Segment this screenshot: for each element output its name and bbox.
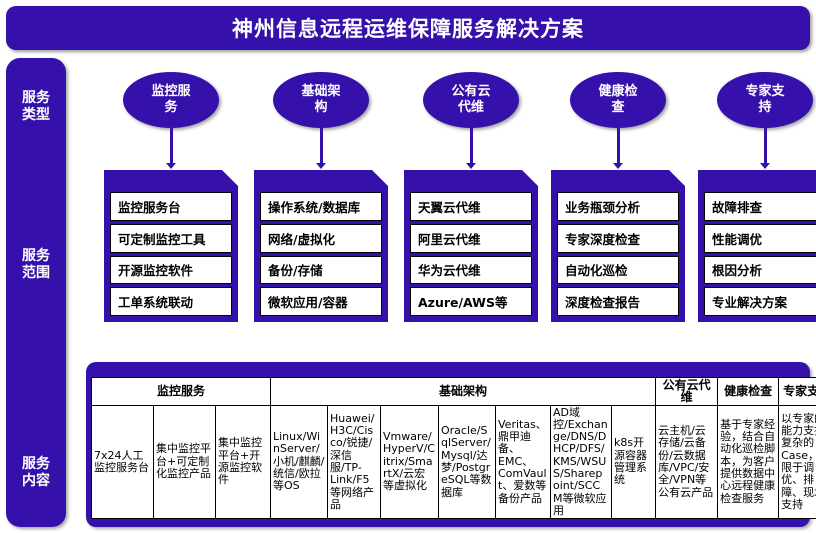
table-cell: 基于专家经验，结合自动化巡检脚本，为客户提供数据中心远程健康检查服务 [718,405,779,519]
sidebar-label-service-content: 服务内容 [6,456,66,490]
scope-item-list: 操作系统/数据库网络/虚拟化备份/存储微软应用/容器 [260,192,382,316]
table-cell: AD域控/Exchange/DNS/DHCP/DFS/KMS/WSUS/Shar… [551,405,612,519]
category-ellipse-label: 基础架构 [301,84,340,116]
category-ellipse-public-cloud[interactable]: 公有云代维 [423,72,519,128]
page-title-bar: 神州信息远程运维保障服务解决方案 [6,6,810,50]
table-cell: 集中监控平台+开源监控软件 [216,405,271,519]
scope-item[interactable]: 深度检查报告 [557,287,679,316]
scope-item[interactable]: 监控服务台 [110,192,232,221]
scope-item[interactable]: 华为云代维 [410,256,532,285]
scope-item[interactable]: 天翼云代维 [410,192,532,221]
scope-panel-health-check: 业务瓶颈分析专家深度检查自动化巡检深度检查报告 [551,170,685,322]
scope-item[interactable]: 故障排查 [704,192,816,221]
service-content-table: 监控服务基础架构公有云代维健康检查专家支持 7x24人工监控服务台集中监控平台+… [91,377,816,519]
connector-line-monitoring [170,128,173,164]
category-ellipse-label: 健康检查 [598,84,637,116]
page-title: 神州信息远程运维保障服务解决方案 [232,13,584,43]
table-cell: Linux/WinServer/小机/麒麟/统信/欧拉等OS [271,405,328,519]
connector-arrow-health-check [613,163,623,169]
scope-item[interactable]: Azure/AWS等 [410,287,532,316]
category-ellipse-health-check[interactable]: 健康检查 [570,72,666,128]
category-ellipse-monitoring[interactable]: 监控服务 [123,72,219,128]
scope-panel-monitoring: 监控服务台可定制监控工具开源监控软件工单系统联动 [104,170,238,322]
scope-item[interactable]: 专家深度检查 [557,224,679,253]
scope-item[interactable]: 自动化巡检 [557,256,679,285]
connector-line-public-cloud [470,128,473,164]
table-group-header: 专家支持 [779,378,816,406]
scope-item[interactable]: 微软应用/容器 [260,287,382,316]
connector-arrow-monitoring [166,163,176,169]
scope-item[interactable]: 操作系统/数据库 [260,192,382,221]
table-cell: k8s开源容器管理系统 [612,405,656,519]
scope-item-list: 故障排查性能调优根因分析专业解决方案 [704,192,816,316]
connector-arrow-public-cloud [466,163,476,169]
table-group-header: 基础架构 [271,378,656,406]
scope-panel-public-cloud: 天翼云代维阿里云代维华为云代维Azure/AWS等 [404,170,538,322]
connector-line-health-check [617,128,620,164]
scope-item[interactable]: 专业解决方案 [704,287,816,316]
category-ellipse-label: 监控服务 [151,84,190,116]
category-ellipse-label: 公有云代维 [451,84,490,116]
table-cell: Oracle/SqlServer/Mysql/达梦/PostgreSQL等数据库 [439,405,496,519]
connector-line-infrastructure [320,128,323,164]
scope-item[interactable]: 工单系统联动 [110,287,232,316]
scope-panel-infrastructure: 操作系统/数据库网络/虚拟化备份/存储微软应用/容器 [254,170,388,322]
category-ellipse-expert-support[interactable]: 专家支持 [717,72,813,128]
scope-item[interactable]: 开源监控软件 [110,256,232,285]
sidebar-label-service-scope: 服务范围 [6,248,66,282]
table-cell: Veritas、鼎甲迪备、EMC、ComVault、爱数等备份产品 [496,405,551,519]
table-cell: 云主机/云存储/云备份/云数据库/VPC/安全/VPN等公有云产品 [656,405,718,519]
table-group-header: 健康检查 [718,378,779,406]
scope-panel-expert-support: 故障排查性能调优根因分析专业解决方案 [698,170,816,322]
table-row: 7x24人工监控服务台集中监控平台+可定制化监控产品集中监控平台+开源监控软件L… [92,405,816,519]
connector-line-expert-support [764,128,767,164]
scope-item[interactable]: 备份/存储 [260,256,382,285]
connector-arrow-expert-support [760,163,770,169]
scope-item-list: 天翼云代维阿里云代维华为云代维Azure/AWS等 [410,192,532,316]
scope-item[interactable]: 可定制监控工具 [110,224,232,253]
sidebar-label-service-type: 服务类型 [6,90,66,124]
category-ellipse-infrastructure[interactable]: 基础架构 [273,72,369,128]
table-cell: 7x24人工监控服务台 [92,405,154,519]
connector-arrow-infrastructure [316,163,326,169]
table-group-header: 监控服务 [92,378,271,406]
table-cell: Vmware/HyperV/Citrix/SmartX/云宏等虚拟化 [381,405,439,519]
scope-item[interactable]: 根因分析 [704,256,816,285]
scope-item[interactable]: 网络/虚拟化 [260,224,382,253]
scope-item-list: 业务瓶颈分析专家深度检查自动化巡检深度检查报告 [557,192,679,316]
table-cell: 集中监控平台+可定制化监控产品 [154,405,216,519]
left-category-sidebar: 服务类型 服务范围 服务内容 [6,58,66,527]
scope-item[interactable]: 阿里云代维 [410,224,532,253]
category-ellipse-label: 专家支持 [745,84,784,116]
table-group-header-row: 监控服务基础架构公有云代维健康检查专家支持 [92,378,816,406]
service-content-panel: 监控服务基础架构公有云代维健康检查专家支持 7x24人工监控服务台集中监控平台+… [86,362,810,527]
table-cell: Huawei/H3C/Cisco/锐捷/深信服/TP-Link/F5等网络产品 [328,405,381,519]
scope-item[interactable]: 性能调优 [704,224,816,253]
table-group-header: 公有云代维 [656,378,718,406]
scope-item[interactable]: 业务瓶颈分析 [557,192,679,221]
table-cell: 以专家的能力支持复杂的Case，不限于调优、排障、现场支持 [779,405,816,519]
scope-item-list: 监控服务台可定制监控工具开源监控软件工单系统联动 [110,192,232,316]
